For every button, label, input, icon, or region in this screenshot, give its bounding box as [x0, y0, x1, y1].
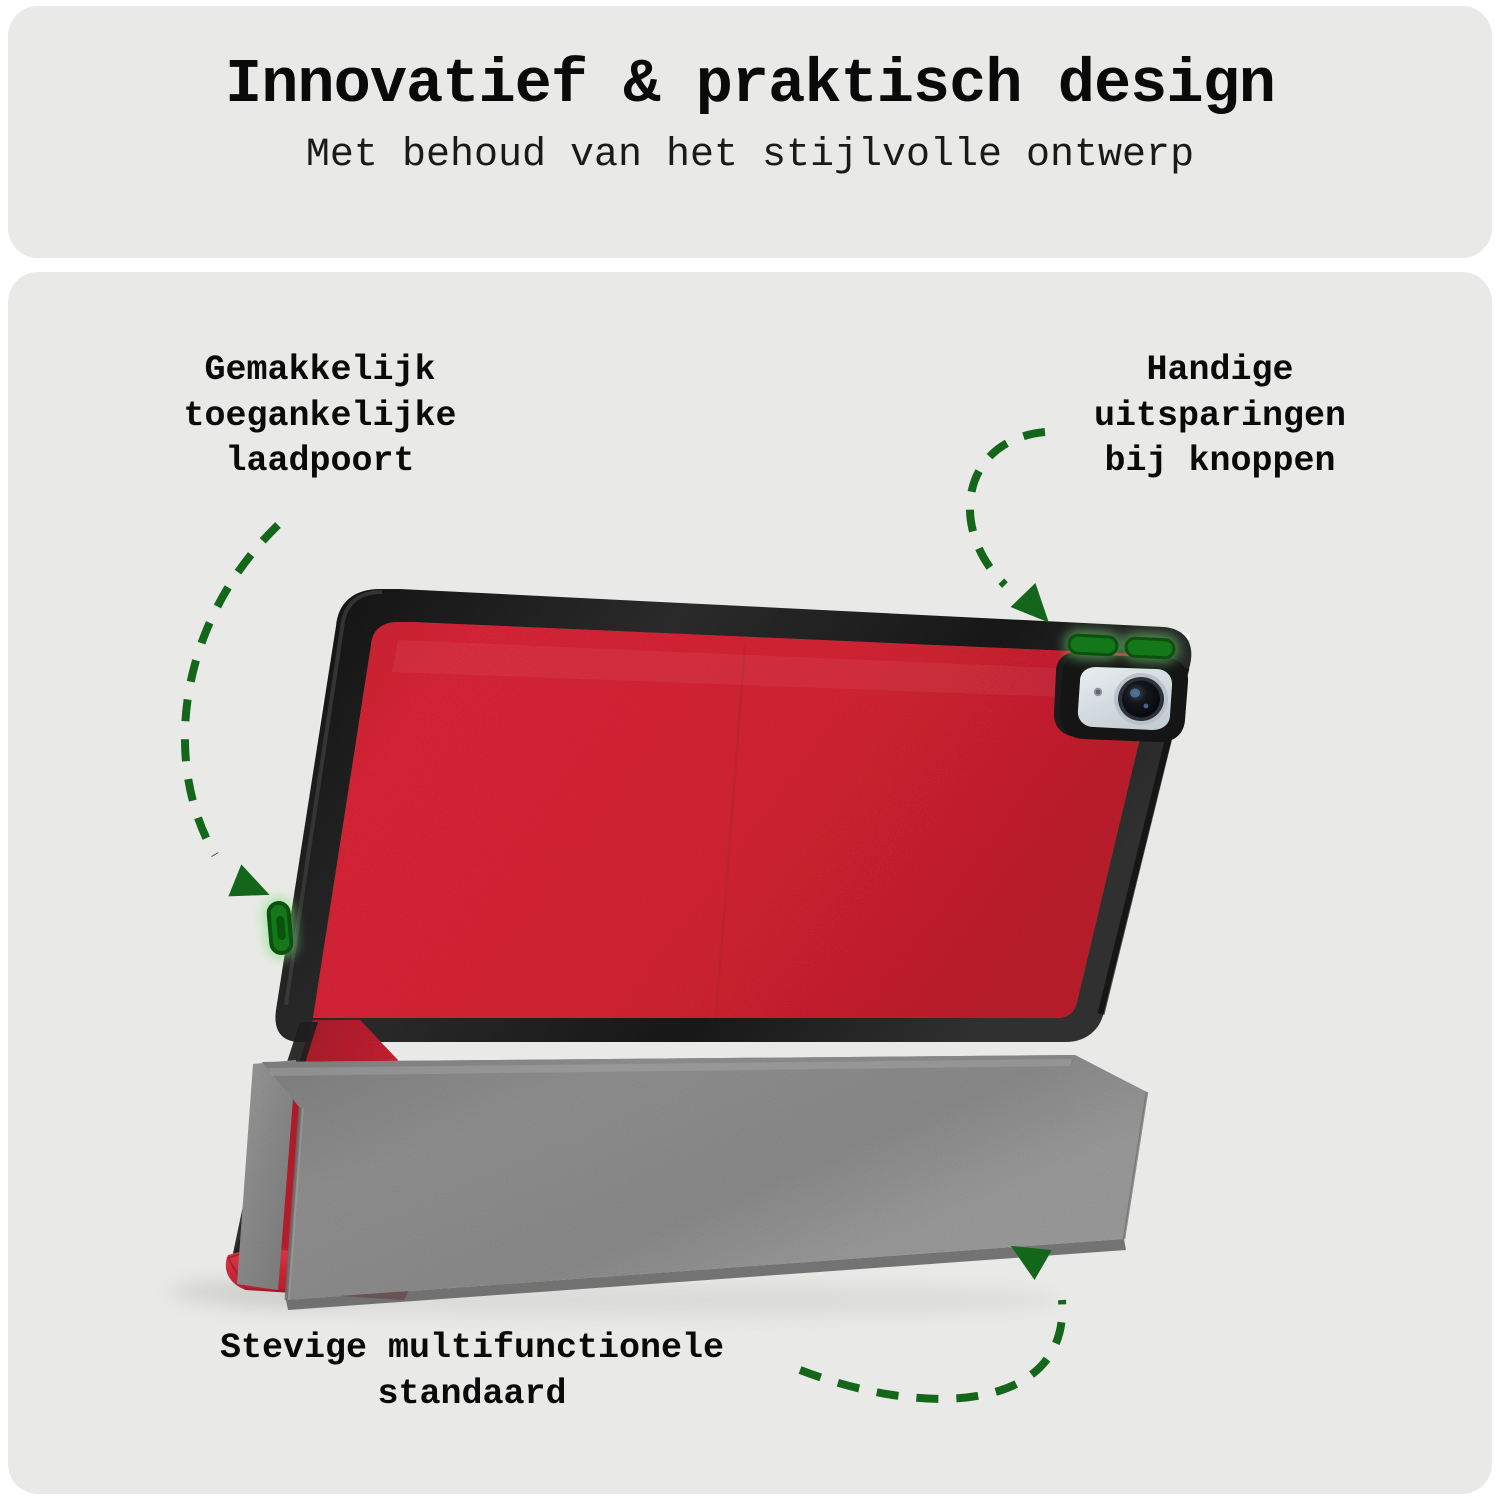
header-text-block: Innovatief & praktisch design Met behoud…	[8, 52, 1492, 178]
callout-label-charging-port: Gemakkelijk toegankelijke laadpoort	[100, 348, 540, 485]
header-panel: Innovatief & praktisch design Met behoud…	[8, 6, 1492, 258]
page-root: Innovatief & praktisch design Met behoud…	[0, 0, 1500, 1500]
page-subtitle: Met behoud van het stijlvolle ontwerp	[8, 134, 1492, 178]
callout-label-button-cutouts: Handige uitsparingen bij knoppen	[1010, 348, 1430, 485]
page-title: Innovatief & praktisch design	[8, 52, 1492, 118]
callout-label-stand: Stevige multifunctionele standaard	[92, 1326, 852, 1417]
